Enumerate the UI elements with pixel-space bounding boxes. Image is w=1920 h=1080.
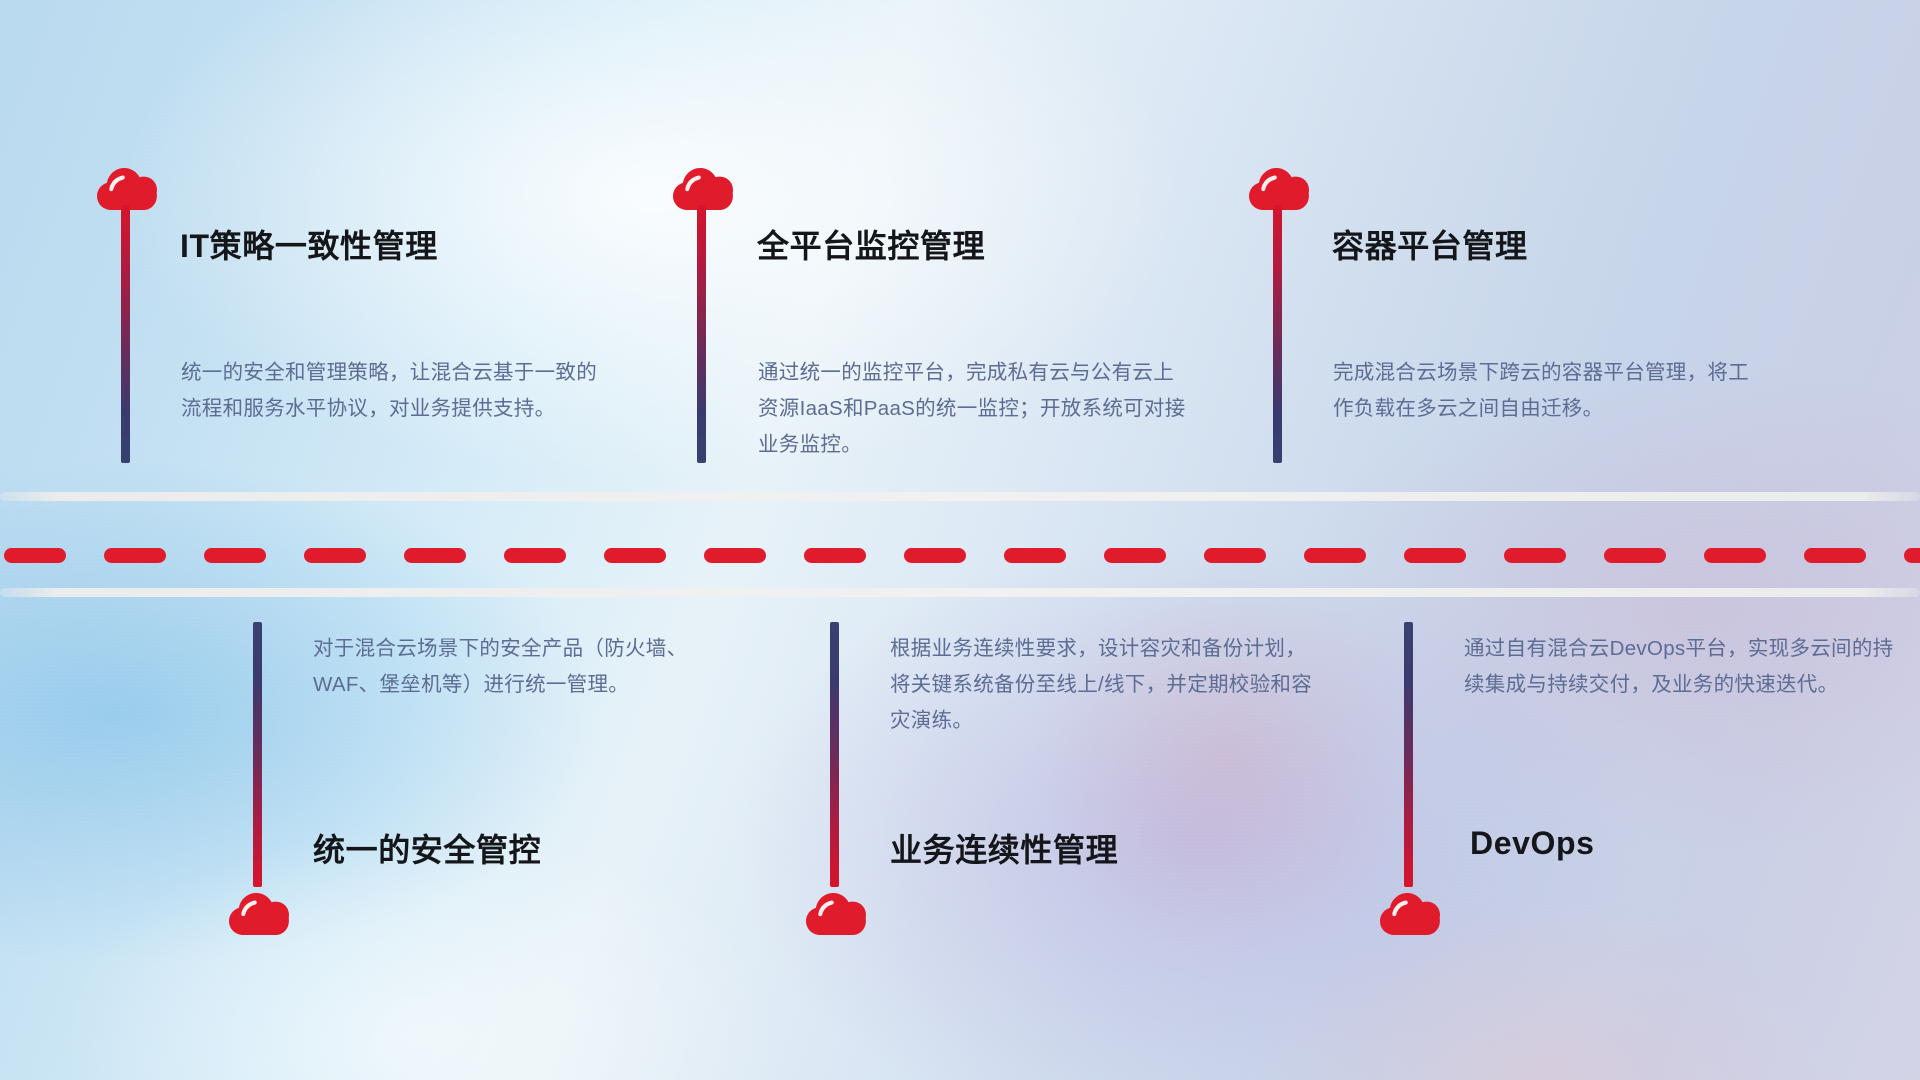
connector-stem — [697, 205, 706, 463]
road-dashed-center-line — [0, 548, 1920, 563]
cloud-icon — [805, 888, 867, 936]
road-dash — [904, 548, 966, 563]
road-dash — [1804, 548, 1866, 563]
road-dash — [1004, 548, 1066, 563]
road-dash — [104, 548, 166, 563]
bottom-card-title: 业务连续性管理 — [890, 825, 1118, 871]
cloud-icon — [672, 163, 734, 211]
top-card-description: 统一的安全和管理策略，让混合云基于一致的流程和服务水平协议，对业务提供支持。 — [181, 355, 611, 427]
road-dash — [304, 548, 366, 563]
cloud-icon — [228, 888, 290, 936]
road-dash — [1904, 548, 1920, 563]
bottom-card-description: 对于混合云场景下的安全产品（防火墙、WAF、堡垒机等）进行统一管理。 — [313, 631, 743, 703]
connector-stem — [830, 622, 839, 887]
road-dash — [804, 548, 866, 563]
top-card-description: 通过统一的监控平台，完成私有云与公有云上资源IaaS和PaaS的统一监控；开放系… — [758, 355, 1188, 463]
bottom-card-title: 统一的安全管控 — [313, 825, 541, 871]
connector-stem — [121, 205, 130, 463]
connector-stem — [1404, 622, 1413, 887]
cloud-icon — [1248, 163, 1310, 211]
road-line-top — [0, 492, 1920, 501]
cloud-icon — [1379, 888, 1441, 936]
top-card-title: IT策略一致性管理 — [180, 221, 438, 267]
road-dash — [604, 548, 666, 563]
bottom-card-description: 通过自有混合云DevOps平台，实现多云间的持续集成与持续交付，及业务的快速迭代… — [1464, 631, 1894, 703]
road-dash — [404, 548, 466, 563]
road-dash — [204, 548, 266, 563]
road-dash — [1504, 548, 1566, 563]
cloud-icon — [96, 163, 158, 211]
road-dash — [504, 548, 566, 563]
top-card-description: 完成混合云场景下跨云的容器平台管理，将工作负载在多云之间自由迁移。 — [1333, 355, 1763, 427]
road-dash — [4, 548, 66, 563]
road-dash — [1704, 548, 1766, 563]
infographic-stage: IT策略一致性管理 统一的安全和管理策略，让混合云基于一致的流程和服务水平协议，… — [0, 0, 1920, 1080]
road-dash — [704, 548, 766, 563]
road-line-bottom — [0, 588, 1920, 597]
top-card-title: 全平台监控管理 — [757, 221, 985, 267]
road-dash — [1304, 548, 1366, 563]
bottom-card-description: 根据业务连续性要求，设计容灾和备份计划，将关键系统备份至线上/线下，并定期校验和… — [890, 631, 1320, 739]
road-dash — [1104, 548, 1166, 563]
road-dash — [1204, 548, 1266, 563]
connector-stem — [1273, 205, 1282, 463]
road-dash — [1404, 548, 1466, 563]
bottom-card-title: DevOps — [1470, 825, 1595, 862]
connector-stem — [253, 622, 262, 887]
road-dash — [1604, 548, 1666, 563]
top-card-title: 容器平台管理 — [1332, 221, 1528, 267]
